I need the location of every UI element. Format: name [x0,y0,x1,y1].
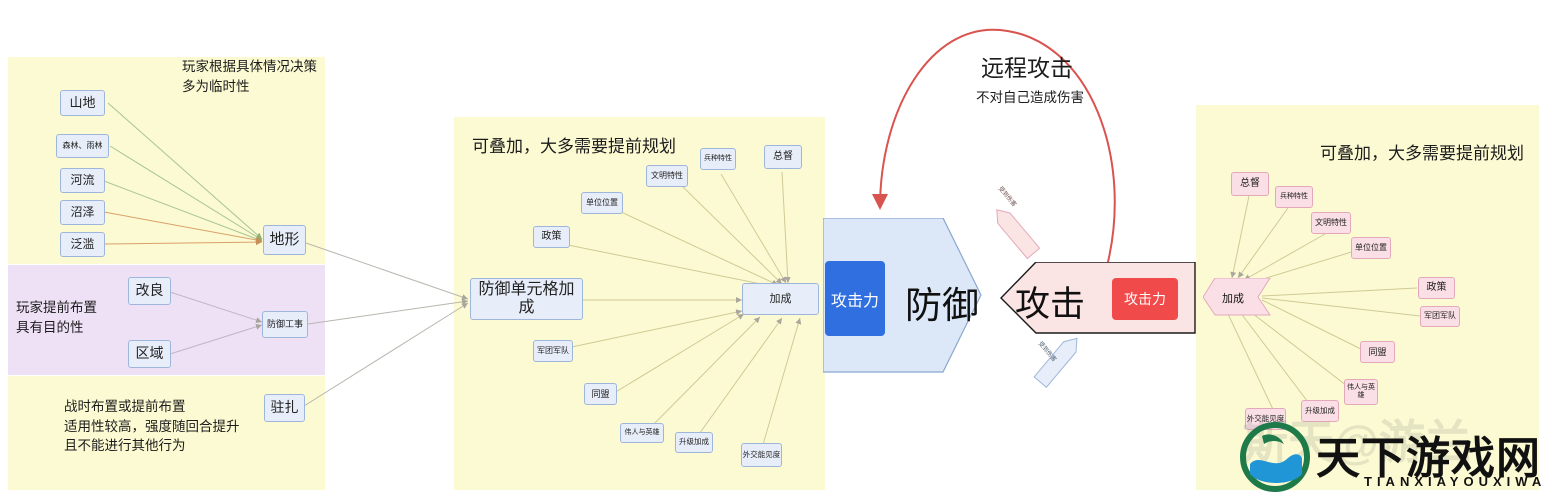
node-label: 伟人与英雄 [1345,384,1377,400]
note-left-bottom: 战时布置或提前布置 适用性较高，强度随回合提升 且不能进行其他行为 [64,397,240,456]
node-label: 加成 [770,293,792,305]
node-label: 同盟 [591,389,609,399]
node-label: 政策 [1427,282,1447,293]
node-juntuanjundui[interactable]: 军团军队 [533,340,573,362]
node-label: 外交能见度 [1247,415,1285,423]
node-label: 防御工事 [267,319,303,329]
node-label: 文明特性 [1315,219,1347,228]
node-label: 区域 [136,346,164,362]
node-label: 单位位置 [586,199,618,208]
node-wenmingtexing[interactable]: 文明特性 [646,165,688,187]
node-label: 军团军队 [1424,312,1456,321]
node-label: 兵种特性 [1280,193,1308,201]
node-zhuzha[interactable]: 驻扎 [264,394,305,422]
node-label: 泛滥 [70,238,94,251]
node-label: 驻扎 [271,400,299,416]
node-r-waijiaonengjiandu[interactable]: 外交能见度 [1245,408,1286,430]
node-label: 伟人与英雄 [625,429,660,437]
chip-label: 攻击力 [831,287,879,311]
node-gailiang[interactable]: 改良 [128,277,171,305]
node-shengjijiacheng[interactable]: 升级加成 [675,432,713,453]
node-label: 单位位置 [1355,244,1387,253]
node-label: 外交能见度 [743,451,781,459]
node-jiacheng-center[interactable]: 加成 [742,283,819,315]
note-left-middle: 玩家提前布置 具有目的性 [16,298,97,337]
note-left-top: 玩家根据具体情况决策 多为临时性 [182,57,317,96]
node-r-bingzhongtexing[interactable]: 兵种特性 [1275,186,1313,208]
attack-label: 攻击 [1015,276,1085,327]
node-label: 兵种特性 [704,155,732,163]
node-dixing[interactable]: 地形 [263,225,306,255]
node-r-wenmingtexing[interactable]: 文明特性 [1311,212,1351,234]
node-label: 政策 [542,231,562,242]
node-r-juntuanjundui[interactable]: 军团军队 [1420,306,1460,327]
node-shandi[interactable]: 山地 [60,90,105,116]
note-ranged-title: 远程攻击 [981,52,1073,85]
node-weirenyuyingxiong[interactable]: 伟人与英雄 [620,423,664,443]
arrow-label-bottom: 受到伤害 [1037,339,1073,380]
node-label: 军团军队 [537,347,569,356]
node-bingzhongtexing[interactable]: 兵种特性 [700,148,736,170]
diagram-canvas: 山地 森林、雨林 河流 沼泽 泛滥 地形 改良 区域 防御工事 驻扎 玩家根据具… [0,0,1547,500]
node-zhaoze[interactable]: 沼泽 [60,200,105,225]
node-label: 河流 [70,174,94,187]
defense-label: 防御 [905,275,979,329]
node-fangyudanyuange[interactable]: 防御单元格加成 [470,278,583,320]
node-quyu[interactable]: 区域 [128,340,171,368]
node-fangyugongshi[interactable]: 防御工事 [262,311,308,338]
node-label: 沼泽 [70,206,94,219]
note-ranged-sub: 不对自己造成伤害 [976,88,1084,108]
note-right: 可叠加，大多需要提前规划 [1320,142,1524,167]
node-r-danweiweizhi[interactable]: 单位位置 [1351,237,1391,259]
node-label: 地形 [269,232,299,249]
node-label: 同盟 [1368,347,1386,357]
node-label: 总督 [773,151,793,162]
node-jiacheng-right-label: 加成 [1222,290,1244,306]
node-senlin[interactable]: 森林、雨林 [56,134,109,158]
node-label: 改良 [136,283,164,299]
note-center: 可叠加，大多需要提前规划 [472,135,676,160]
node-label: 防御单元格加成 [471,281,582,317]
node-label: 文明特性 [651,172,683,181]
node-zhengce[interactable]: 政策 [533,226,570,248]
node-r-shengjijiacheng[interactable]: 升级加成 [1301,400,1339,422]
node-danweiweizhi[interactable]: 单位位置 [581,192,623,214]
defense-attack-power-chip[interactable]: 攻击力 [825,261,885,336]
node-label: 总督 [1240,178,1260,189]
node-label: 升级加成 [679,438,709,446]
node-fanlan[interactable]: 泛滥 [60,232,105,257]
node-label: 升级加成 [1305,407,1335,415]
node-tongmeng[interactable]: 同盟 [584,383,617,405]
node-r-zhengce[interactable]: 政策 [1418,277,1455,299]
chip-label: 攻击力 [1124,289,1166,309]
node-r-weirenyuyingxiong[interactable]: 伟人与英雄 [1344,379,1378,405]
node-waijiaonengjiandu[interactable]: 外交能见度 [741,443,782,467]
node-r-zongdu[interactable]: 总督 [1231,172,1269,196]
node-zongdu[interactable]: 总督 [764,145,802,169]
node-label: 山地 [69,96,95,111]
attack-power-chip[interactable]: 攻击力 [1112,278,1178,320]
node-heliu[interactable]: 河流 [60,168,105,193]
node-label: 森林、雨林 [63,142,103,151]
arrow-label-top: 受到伤害 [997,184,1033,225]
node-r-tongmeng[interactable]: 同盟 [1360,341,1395,363]
